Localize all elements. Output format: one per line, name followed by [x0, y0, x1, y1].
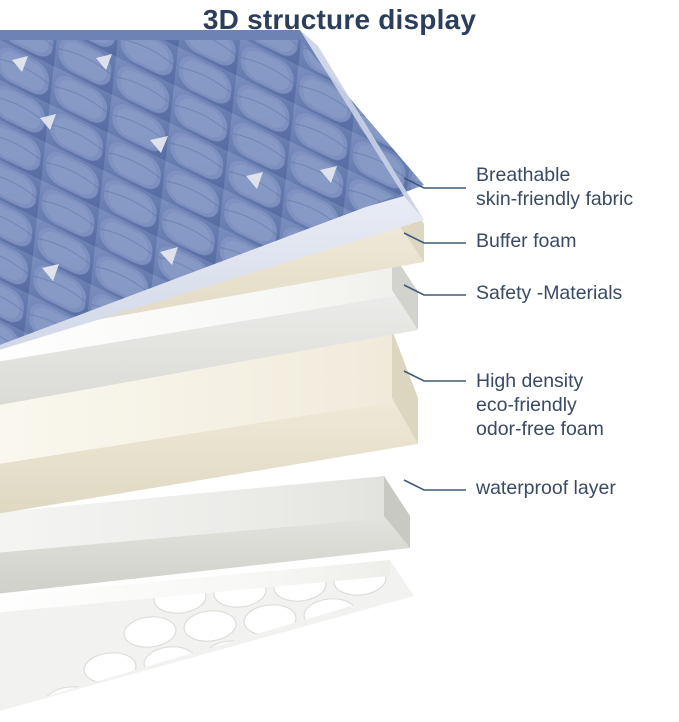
- label-breathable-skin-friendly-fabric: Breathable skin-friendly fabric: [476, 163, 633, 211]
- label-buffer-foam: Buffer foam: [476, 229, 576, 253]
- mattress-layers-illustration: [0, 0, 679, 722]
- structure-diagram-stage: 3D structure display: [0, 0, 679, 722]
- label-waterproof-layer: waterproof layer: [476, 476, 616, 500]
- label-safety-materials: Safety -Materials: [476, 281, 622, 305]
- label-high-density-eco-friendly-odor-free-foam: High density eco-friendly odor-free foam: [476, 369, 604, 441]
